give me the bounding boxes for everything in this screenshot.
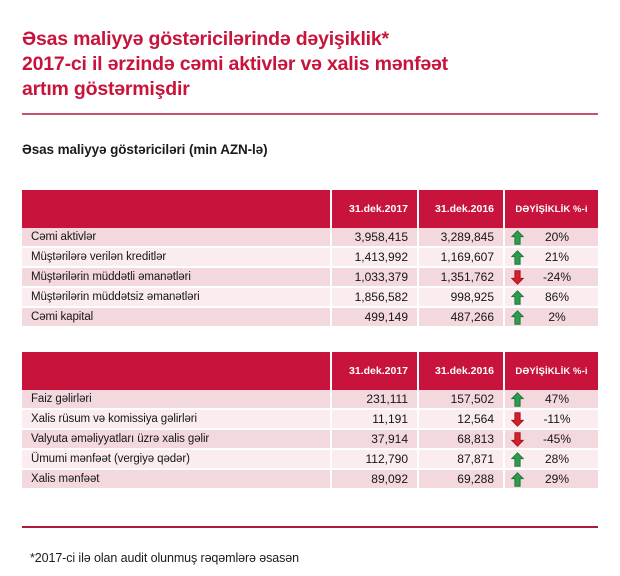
value-2016: 1,351,762 (419, 268, 505, 288)
table-row: Xalis mənfəət89,09269,28829% (22, 470, 598, 490)
table-header: 31.dek.2017 31.dek.2016 DƏYİŞİKLİK %-i (22, 190, 598, 228)
table-body: Cəmi aktivlər3,958,4153,289,84520%Müştər… (22, 228, 598, 328)
header-col-2016: 31.dek.2016 (419, 190, 505, 228)
change-cell: -24% (505, 268, 598, 288)
value-2016: 1,169,607 (419, 248, 505, 268)
change-percent: 21% (524, 250, 588, 264)
table-row: Cəmi kapital499,149487,2662% (22, 308, 598, 328)
change-wrapper: 21% (511, 248, 588, 266)
title-divider (22, 113, 598, 115)
title-line-3: artım göstərmişdir (22, 77, 598, 102)
header-label (22, 190, 332, 228)
arrow-up-icon (511, 452, 524, 467)
header-col-2017: 31.dek.2017 (332, 352, 419, 390)
title-line-1: Əsas maliyyə göstəricilərində dəyişiklik… (22, 27, 598, 52)
row-label: Xalis mənfəət (22, 470, 332, 490)
change-wrapper: 28% (511, 450, 588, 468)
value-2017: 37,914 (332, 430, 419, 450)
change-cell: 28% (505, 450, 598, 470)
arrow-up-icon (511, 310, 524, 325)
row-label: Müştərilərin müddətsiz əmanətləri (22, 288, 332, 308)
change-percent: 86% (524, 290, 588, 304)
value-2017: 11,191 (332, 410, 419, 430)
table-header-row: 31.dek.2017 31.dek.2016 DƏYİŞİKLİK %-i (22, 190, 598, 228)
change-cell: -11% (505, 410, 598, 430)
value-2017: 1,413,992 (332, 248, 419, 268)
value-2017: 3,958,415 (332, 228, 419, 248)
header-col-change: DƏYİŞİKLİK %-i (505, 190, 598, 228)
change-wrapper: 29% (511, 470, 588, 488)
arrow-up-icon (511, 250, 524, 265)
change-cell: 2% (505, 308, 598, 328)
report-page: Əsas maliyyə göstəricilərində dəyişiklik… (0, 0, 620, 576)
table-header: 31.dek.2017 31.dek.2016 DƏYİŞİKLİK %-i (22, 352, 598, 390)
value-2017: 231,111 (332, 390, 419, 410)
value-2017: 499,149 (332, 308, 419, 328)
change-wrapper: 47% (511, 390, 588, 408)
financial-indicators-table: 31.dek.2017 31.dek.2016 DƏYİŞİKLİK %-i C… (22, 190, 598, 328)
table-row: Müştərilərə verilən kreditlər1,413,9921,… (22, 248, 598, 268)
change-percent: 20% (524, 230, 588, 244)
change-wrapper: 86% (511, 288, 588, 306)
header-col-2016: 31.dek.2016 (419, 352, 505, 390)
value-2017: 89,092 (332, 470, 419, 490)
title-line-2: 2017-ci il ərzində cəmi aktivlər və xali… (22, 52, 598, 77)
value-2016: 87,871 (419, 450, 505, 470)
value-2017: 1,856,582 (332, 288, 419, 308)
change-percent: 47% (524, 392, 588, 406)
arrow-up-icon (511, 392, 524, 407)
arrow-down-icon (511, 270, 524, 285)
change-wrapper: -24% (511, 268, 588, 286)
row-label: Cəmi aktivlər (22, 228, 332, 248)
change-percent: -24% (524, 270, 588, 284)
table-body: Faiz gəlirləri231,111157,50247%Xalis rüs… (22, 390, 598, 490)
value-2016: 3,289,845 (419, 228, 505, 248)
change-cell: 86% (505, 288, 598, 308)
change-wrapper: 20% (511, 228, 588, 246)
change-cell: -45% (505, 430, 598, 450)
table-row: Valyuta əməliyyatları üzrə xalis gəlir37… (22, 430, 598, 450)
table-row: Müştərilərin müddətsiz əmanətləri1,856,5… (22, 288, 598, 308)
arrow-up-icon (511, 472, 524, 487)
header-label (22, 352, 332, 390)
arrow-up-icon (511, 230, 524, 245)
change-percent: 29% (524, 472, 588, 486)
value-2017: 112,790 (332, 450, 419, 470)
table-header-row: 31.dek.2017 31.dek.2016 DƏYİŞİKLİK %-i (22, 352, 598, 390)
header-col-change: DƏYİŞİKLİK %-i (505, 352, 598, 390)
row-label: Cəmi kapital (22, 308, 332, 328)
row-label: Müştərilərə verilən kreditlər (22, 248, 332, 268)
change-wrapper: -45% (511, 430, 588, 448)
change-percent: -45% (524, 432, 588, 446)
row-label: Xalis rüsum və komissiya gəlirləri (22, 410, 332, 430)
arrow-down-icon (511, 432, 524, 447)
table-row: Faiz gəlirləri231,111157,50247% (22, 390, 598, 410)
row-label: Valyuta əməliyyatları üzrə xalis gəlir (22, 430, 332, 450)
value-2016: 998,925 (419, 288, 505, 308)
change-percent: -11% (524, 412, 588, 426)
row-label: Faiz gəlirləri (22, 390, 332, 410)
footer-divider (22, 526, 598, 528)
section-subtitle: Əsas maliyyə göstəriciləri (min AZN-lə) (22, 142, 268, 157)
change-percent: 28% (524, 452, 588, 466)
arrow-up-icon (511, 290, 524, 305)
arrow-down-icon (511, 412, 524, 427)
table-row: Xalis rüsum və komissiya gəlirləri11,191… (22, 410, 598, 430)
change-cell: 29% (505, 470, 598, 490)
change-cell: 47% (505, 390, 598, 410)
value-2017: 1,033,379 (332, 268, 419, 288)
change-cell: 20% (505, 228, 598, 248)
table-row: Müştərilərin müddətli əmanətləri1,033,37… (22, 268, 598, 288)
value-2016: 69,288 (419, 470, 505, 490)
header-col-2017: 31.dek.2017 (332, 190, 419, 228)
page-title: Əsas maliyyə göstəricilərində dəyişiklik… (22, 27, 598, 102)
row-label: Müştərilərin müddətli əmanətləri (22, 268, 332, 288)
row-label: Ümumi mənfəət (vergiyə qədər) (22, 450, 332, 470)
change-wrapper: -11% (511, 410, 588, 428)
table-row: Cəmi aktivlər3,958,4153,289,84520% (22, 228, 598, 248)
footnote: *2017-ci ilə olan audit olunmuş rəqəmlər… (30, 551, 299, 565)
value-2016: 487,266 (419, 308, 505, 328)
table-row: Ümumi mənfəət (vergiyə qədər)112,79087,8… (22, 450, 598, 470)
value-2016: 12,564 (419, 410, 505, 430)
value-2016: 68,813 (419, 430, 505, 450)
change-cell: 21% (505, 248, 598, 268)
value-2016: 157,502 (419, 390, 505, 410)
change-wrapper: 2% (511, 308, 588, 326)
change-percent: 2% (524, 310, 588, 324)
income-indicators-table: 31.dek.2017 31.dek.2016 DƏYİŞİKLİK %-i F… (22, 352, 598, 490)
